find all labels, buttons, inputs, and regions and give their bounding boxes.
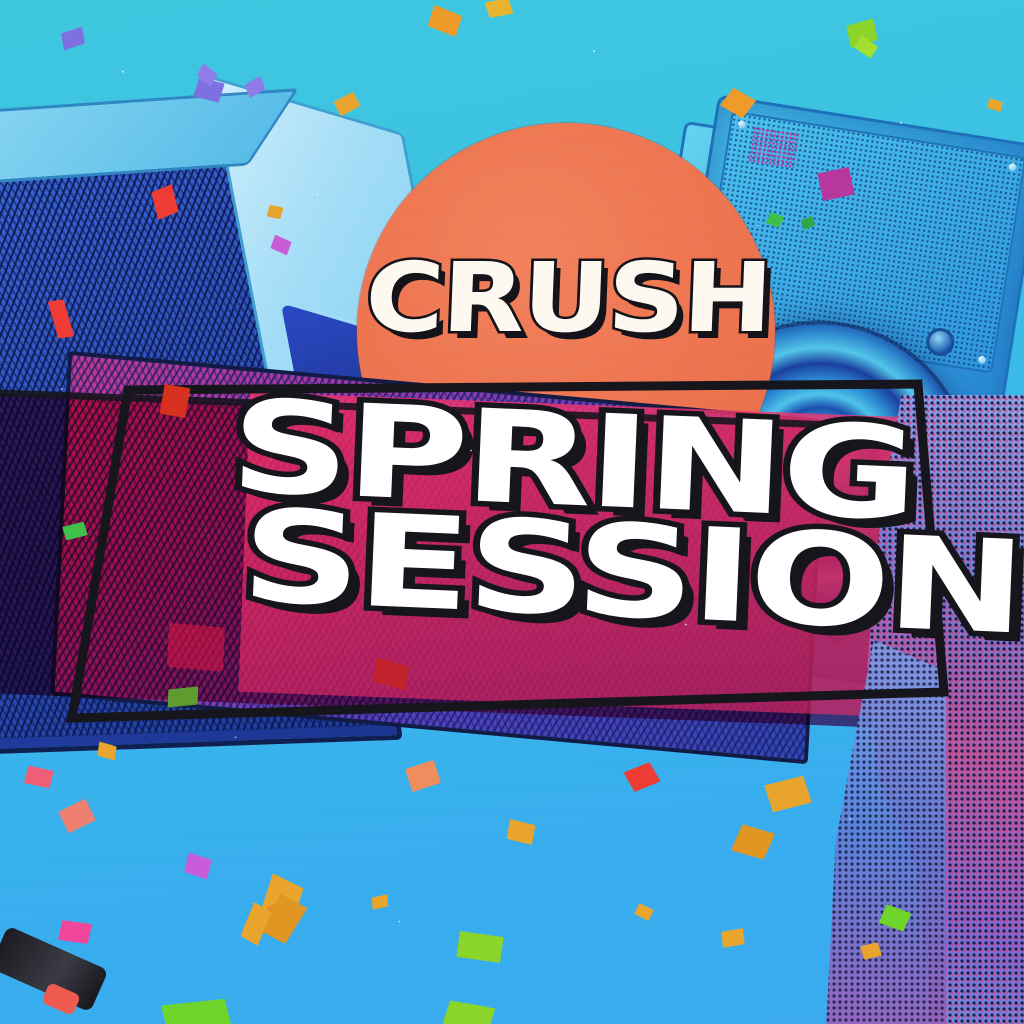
brand-wordmark-crush: CRUSH [342,250,794,346]
headline-line-session: SESSION [239,499,1024,652]
screw-icon [1008,163,1017,172]
screw-icon [737,120,746,129]
magenta-halftone-patch [748,126,799,169]
headline-block: SPRING SESSION [224,389,933,642]
poster-canvas: CRUSH SPRING SESSION [0,0,1024,1024]
screw-icon [977,355,986,364]
